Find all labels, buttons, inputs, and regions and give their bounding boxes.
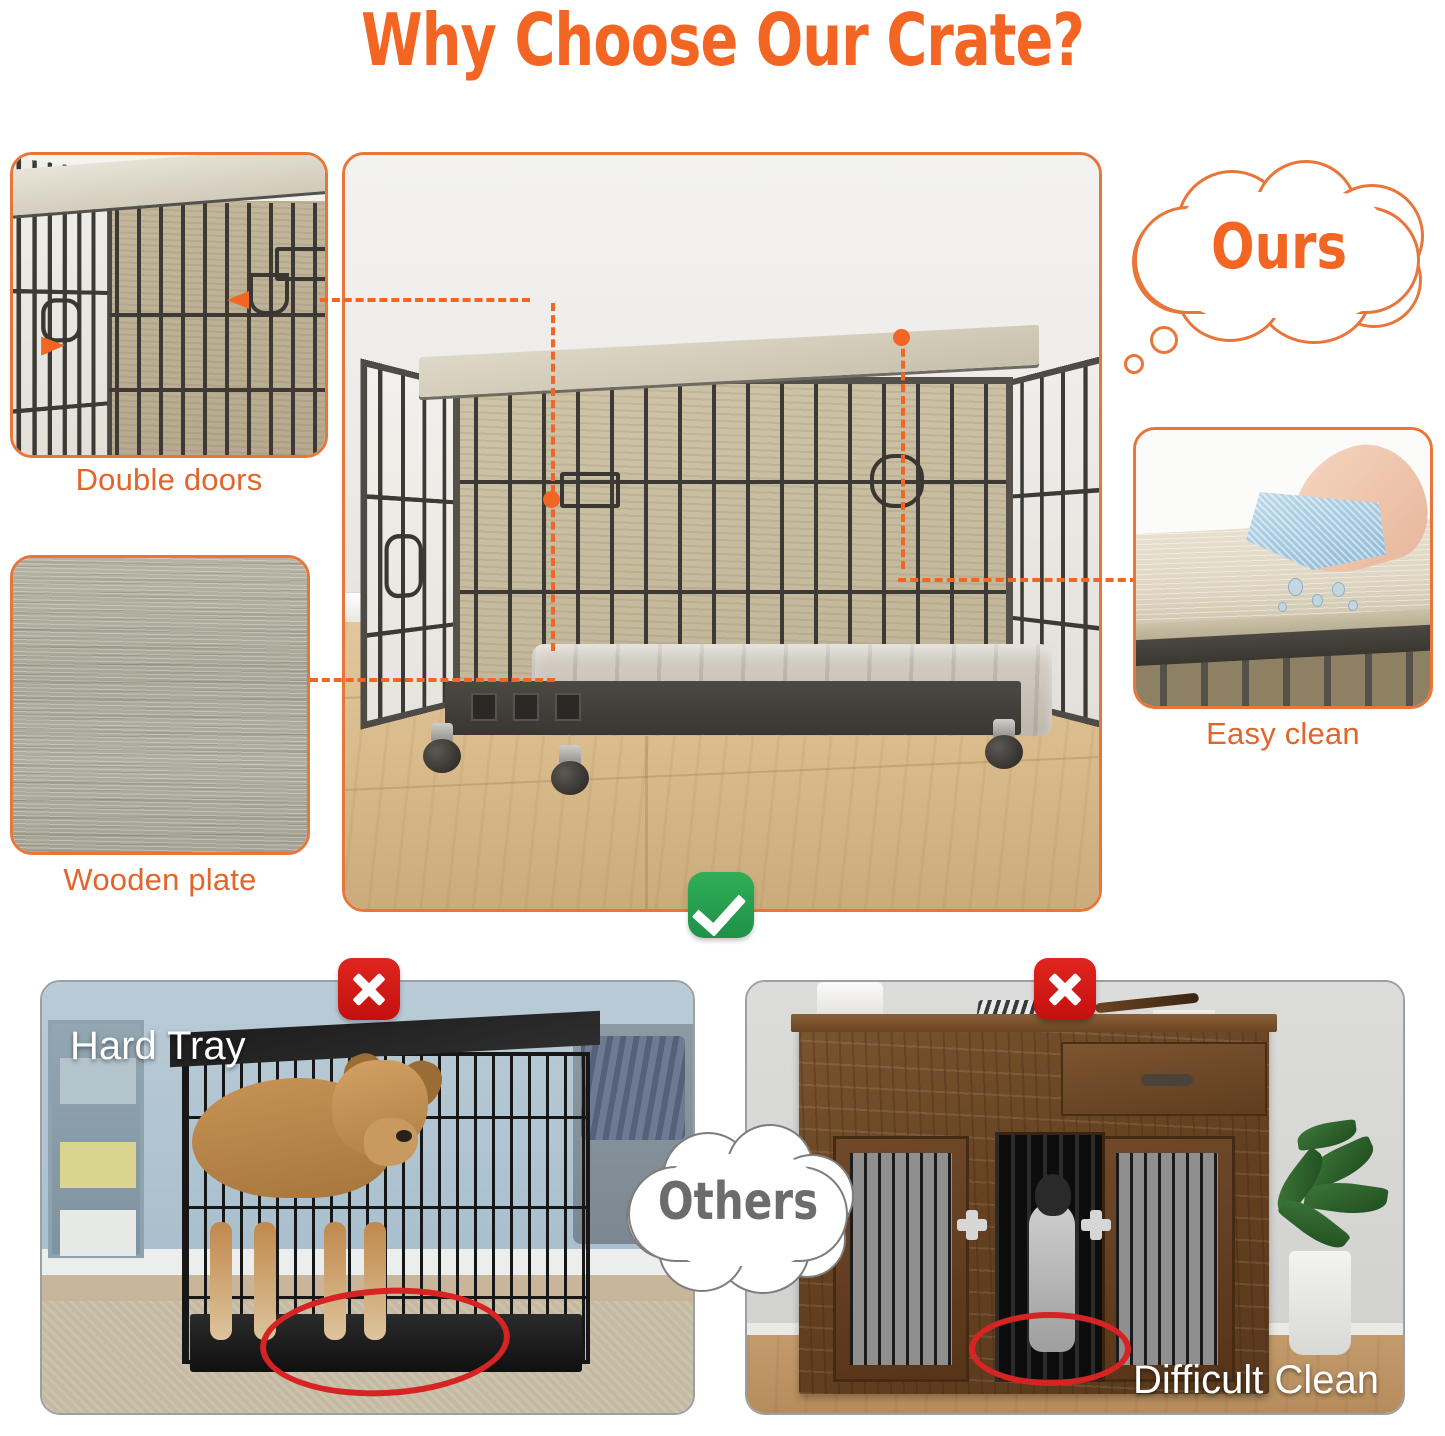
- caption-wooden-plate: Wooden plate: [0, 862, 320, 898]
- others-label: Others: [630, 1172, 846, 1232]
- red-x-badge-icon-right: [1034, 958, 1096, 1020]
- right-door-latch-icon: [1081, 1210, 1111, 1240]
- left-wing-latch: [384, 534, 422, 599]
- dog-snout: [364, 1118, 418, 1166]
- callout-line-wood-horizontal: [310, 678, 555, 682]
- crate-left-door-panel: [360, 358, 465, 729]
- potted-plant: [1255, 1105, 1385, 1355]
- br-dog-head: [1035, 1174, 1071, 1216]
- wire-bars-front: [109, 203, 325, 455]
- plant-pot: [1289, 1251, 1351, 1355]
- label-difficult-clean: Difficult Clean: [1133, 1358, 1379, 1403]
- callout-line-clean-vertical: [901, 337, 905, 569]
- caster-wheel-front-left: [423, 723, 461, 773]
- side-door-latch: [870, 454, 924, 508]
- main-product-photo: [342, 152, 1102, 912]
- ours-label: Ours: [1133, 210, 1426, 283]
- left-door-latch-icon: [957, 1210, 987, 1240]
- left-door-mesh: [850, 1153, 952, 1365]
- others-speech-bubble: Others: [618, 1118, 858, 1304]
- feature-thumbnail-double-doors: [10, 152, 328, 458]
- right-door-mesh: [1116, 1153, 1218, 1365]
- label-hard-tray: Hard Tray: [70, 1024, 246, 1069]
- caption-easy-clean: Easy clean: [1133, 716, 1433, 752]
- water-droplet: [1278, 602, 1287, 612]
- feature-thumbnail-wooden-plate: [10, 555, 310, 855]
- red-x-badge-icon-left: [338, 958, 400, 1020]
- cabinet-top-surface: [791, 1014, 1277, 1032]
- easy-clean-photo: [1136, 430, 1430, 706]
- ours-bubble-trail-2: [1124, 354, 1144, 374]
- water-droplet: [1332, 582, 1345, 597]
- water-droplet: [1348, 600, 1358, 611]
- water-droplet: [1288, 578, 1303, 596]
- callout-line-doors-vertical: [551, 303, 555, 651]
- page-title: Why Choose Our Crate?: [101, 4, 1344, 76]
- caster-wheel-right: [985, 719, 1023, 769]
- comparison-photo-hard-tray: Hard Tray: [40, 980, 695, 1415]
- feature-thumbnail-easy-clean: [1133, 427, 1433, 709]
- double-doors-photo: [13, 155, 325, 455]
- front-door-latch-upper: [560, 472, 620, 508]
- left-latch-arrow-icon: [41, 336, 65, 356]
- caster-wheel-front-center: [551, 745, 589, 795]
- callout-line-clean-horizontal: [898, 578, 1138, 582]
- caption-double-doors: Double doors: [10, 462, 328, 498]
- ours-speech-bubble: Ours: [1120, 158, 1438, 348]
- callout-dot-doors: [543, 491, 560, 508]
- front-latch-arrow-icon: [227, 291, 249, 309]
- crate-front-and-interior: [453, 377, 1013, 707]
- wood-grain-texture: [13, 558, 307, 852]
- front-door-hook: [249, 273, 289, 315]
- ours-bubble-trail-1: [1150, 326, 1178, 354]
- red-highlight-ellipse: [969, 1312, 1131, 1386]
- crate-base-plinth: [445, 681, 1021, 735]
- water-droplet: [1312, 594, 1323, 607]
- check-mark-icon: [692, 881, 746, 937]
- dog-nose: [396, 1130, 412, 1142]
- green-check-badge-icon: [688, 872, 754, 938]
- callout-dot-tabletop: [893, 329, 910, 346]
- callout-line-doors-horizontal: [320, 298, 530, 302]
- cabinet-drawer: [1061, 1042, 1267, 1116]
- drawer-pull-icon: [1141, 1074, 1193, 1086]
